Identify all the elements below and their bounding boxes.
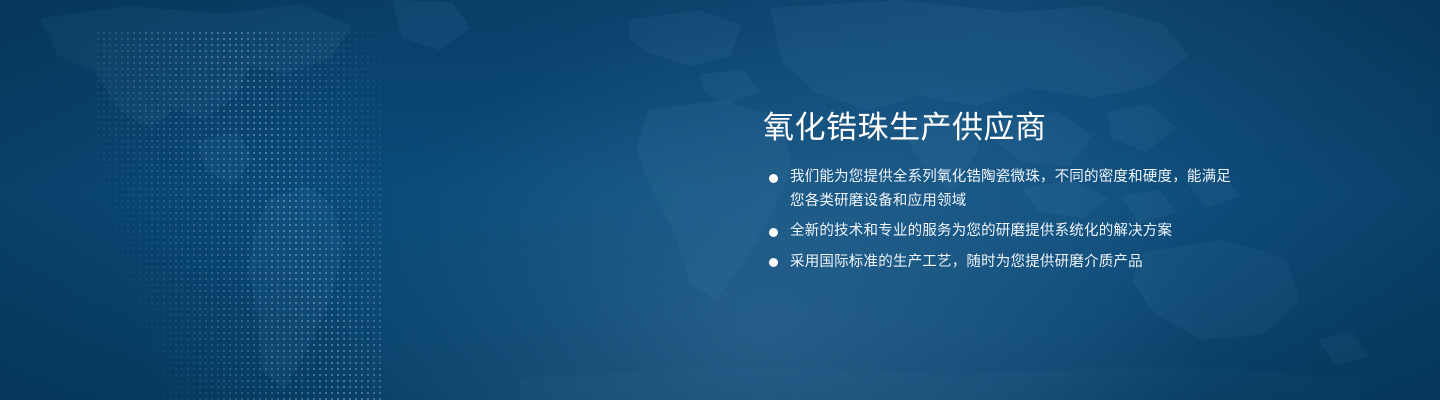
hero-banner: 氧化锆珠生产供应商 我们能为您提供全系列氧化锆陶瓷微珠，不同的密度和硬度，能满足… bbox=[0, 0, 1440, 400]
list-item: 采用国际标准的生产工艺，随时为您提供研磨介质产品 bbox=[763, 251, 1233, 275]
list-item: 全新的技术和专业的服务为您的研磨提供系统化的解决方案 bbox=[763, 220, 1233, 244]
list-item: 我们能为您提供全系列氧化锆陶瓷微珠，不同的密度和硬度，能满足您各类研磨设备和应用… bbox=[763, 166, 1233, 213]
banner-copy: 氧化锆珠生产供应商 我们能为您提供全系列氧化锆陶瓷微珠，不同的密度和硬度，能满足… bbox=[763, 108, 1233, 274]
list-item-label: 全新的技术和专业的服务为您的研磨提供系统化的解决方案 bbox=[790, 220, 1233, 244]
feature-list: 我们能为您提供全系列氧化锆陶瓷微珠，不同的密度和硬度，能满足您各类研磨设备和应用… bbox=[763, 166, 1233, 274]
page-title: 氧化锆珠生产供应商 bbox=[763, 108, 1233, 148]
list-item-label: 我们能为您提供全系列氧化锆陶瓷微珠，不同的密度和硬度，能满足您各类研磨设备和应用… bbox=[790, 166, 1233, 213]
bullet-dot-icon bbox=[769, 228, 778, 237]
bullet-dot-icon bbox=[769, 258, 778, 267]
bullet-dot-icon bbox=[769, 174, 778, 183]
list-item-label: 采用国际标准的生产工艺，随时为您提供研磨介质产品 bbox=[790, 251, 1233, 275]
